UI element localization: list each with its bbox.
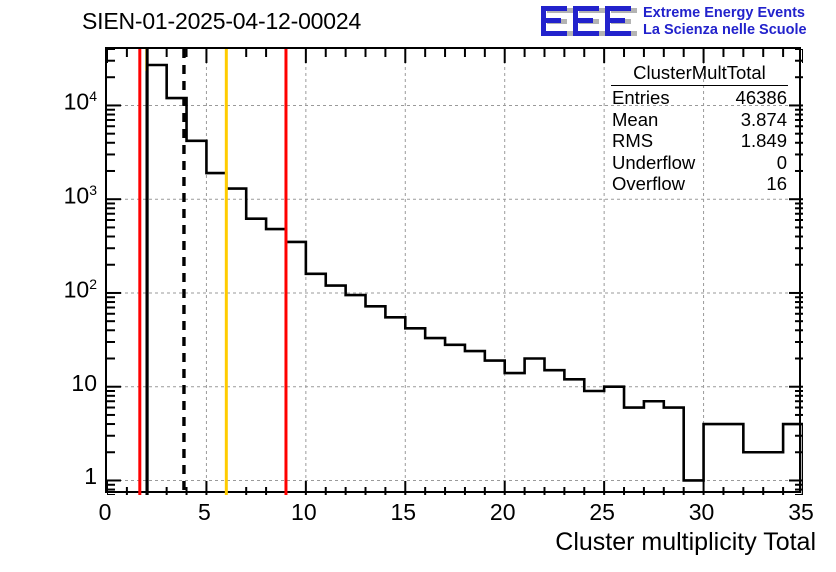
logo-line-1: Extreme Energy Events bbox=[643, 5, 807, 22]
stats-row: Underflow0 bbox=[607, 152, 792, 174]
stats-row-label: Overflow bbox=[612, 173, 685, 195]
stats-row-label: RMS bbox=[612, 130, 653, 152]
stats-row-value: 0 bbox=[777, 152, 787, 174]
eee-logo-mark bbox=[541, 6, 637, 40]
stats-row-label: Underflow bbox=[612, 152, 695, 174]
stats-row-value: 16 bbox=[766, 173, 787, 195]
y-axis-tick-label: 1 bbox=[84, 463, 97, 490]
stats-rows: Entries46386Mean3.874RMS1.849Underflow0O… bbox=[607, 87, 792, 195]
stats-title: ClusterMultTotal bbox=[611, 62, 788, 86]
logo-line-2: La Scienza nelle Scuole bbox=[643, 22, 807, 39]
stats-row: Entries46386 bbox=[607, 87, 792, 109]
stats-row-value: 1.849 bbox=[741, 130, 787, 152]
y-axis-tick-label: 103 bbox=[64, 182, 97, 210]
x-axis-tick-label: 10 bbox=[274, 499, 334, 526]
x-axis-tick-label: 5 bbox=[174, 499, 234, 526]
x-axis-tick-label: 25 bbox=[572, 499, 632, 526]
page-title: SIEN-01-2025-04-12-00024 bbox=[82, 8, 361, 35]
stats-box: ClusterMultTotal Entries46386Mean3.874RM… bbox=[607, 62, 792, 195]
x-axis-tick-label: 20 bbox=[473, 499, 533, 526]
stats-row: Overflow16 bbox=[607, 173, 792, 195]
x-axis-tick-label: 35 bbox=[771, 499, 831, 526]
stats-row-label: Entries bbox=[612, 87, 670, 109]
histogram-canvas: SIEN-01-2025-04-12-00024 Extreme Energy … bbox=[0, 0, 836, 572]
y-axis-tick-label: 10 bbox=[71, 370, 97, 397]
y-axis-tick-label: 102 bbox=[64, 276, 97, 304]
stats-row: Mean3.874 bbox=[607, 109, 792, 131]
stats-row-value: 3.874 bbox=[741, 109, 787, 131]
y-axis-tick-label: 104 bbox=[64, 88, 97, 116]
x-axis-tick-label: 15 bbox=[373, 499, 433, 526]
stats-row-value: 46386 bbox=[736, 87, 787, 109]
stats-row: RMS1.849 bbox=[607, 130, 792, 152]
x-axis-title: Cluster multiplicity Total bbox=[555, 528, 816, 557]
x-axis-tick-label: 0 bbox=[75, 499, 135, 526]
eee-logo: Extreme Energy Events La Scienza nelle S… bbox=[541, 4, 833, 44]
x-axis-tick-label: 30 bbox=[672, 499, 732, 526]
stats-row-label: Mean bbox=[612, 109, 658, 131]
eee-logo-text: Extreme Energy Events La Scienza nelle S… bbox=[643, 5, 807, 39]
